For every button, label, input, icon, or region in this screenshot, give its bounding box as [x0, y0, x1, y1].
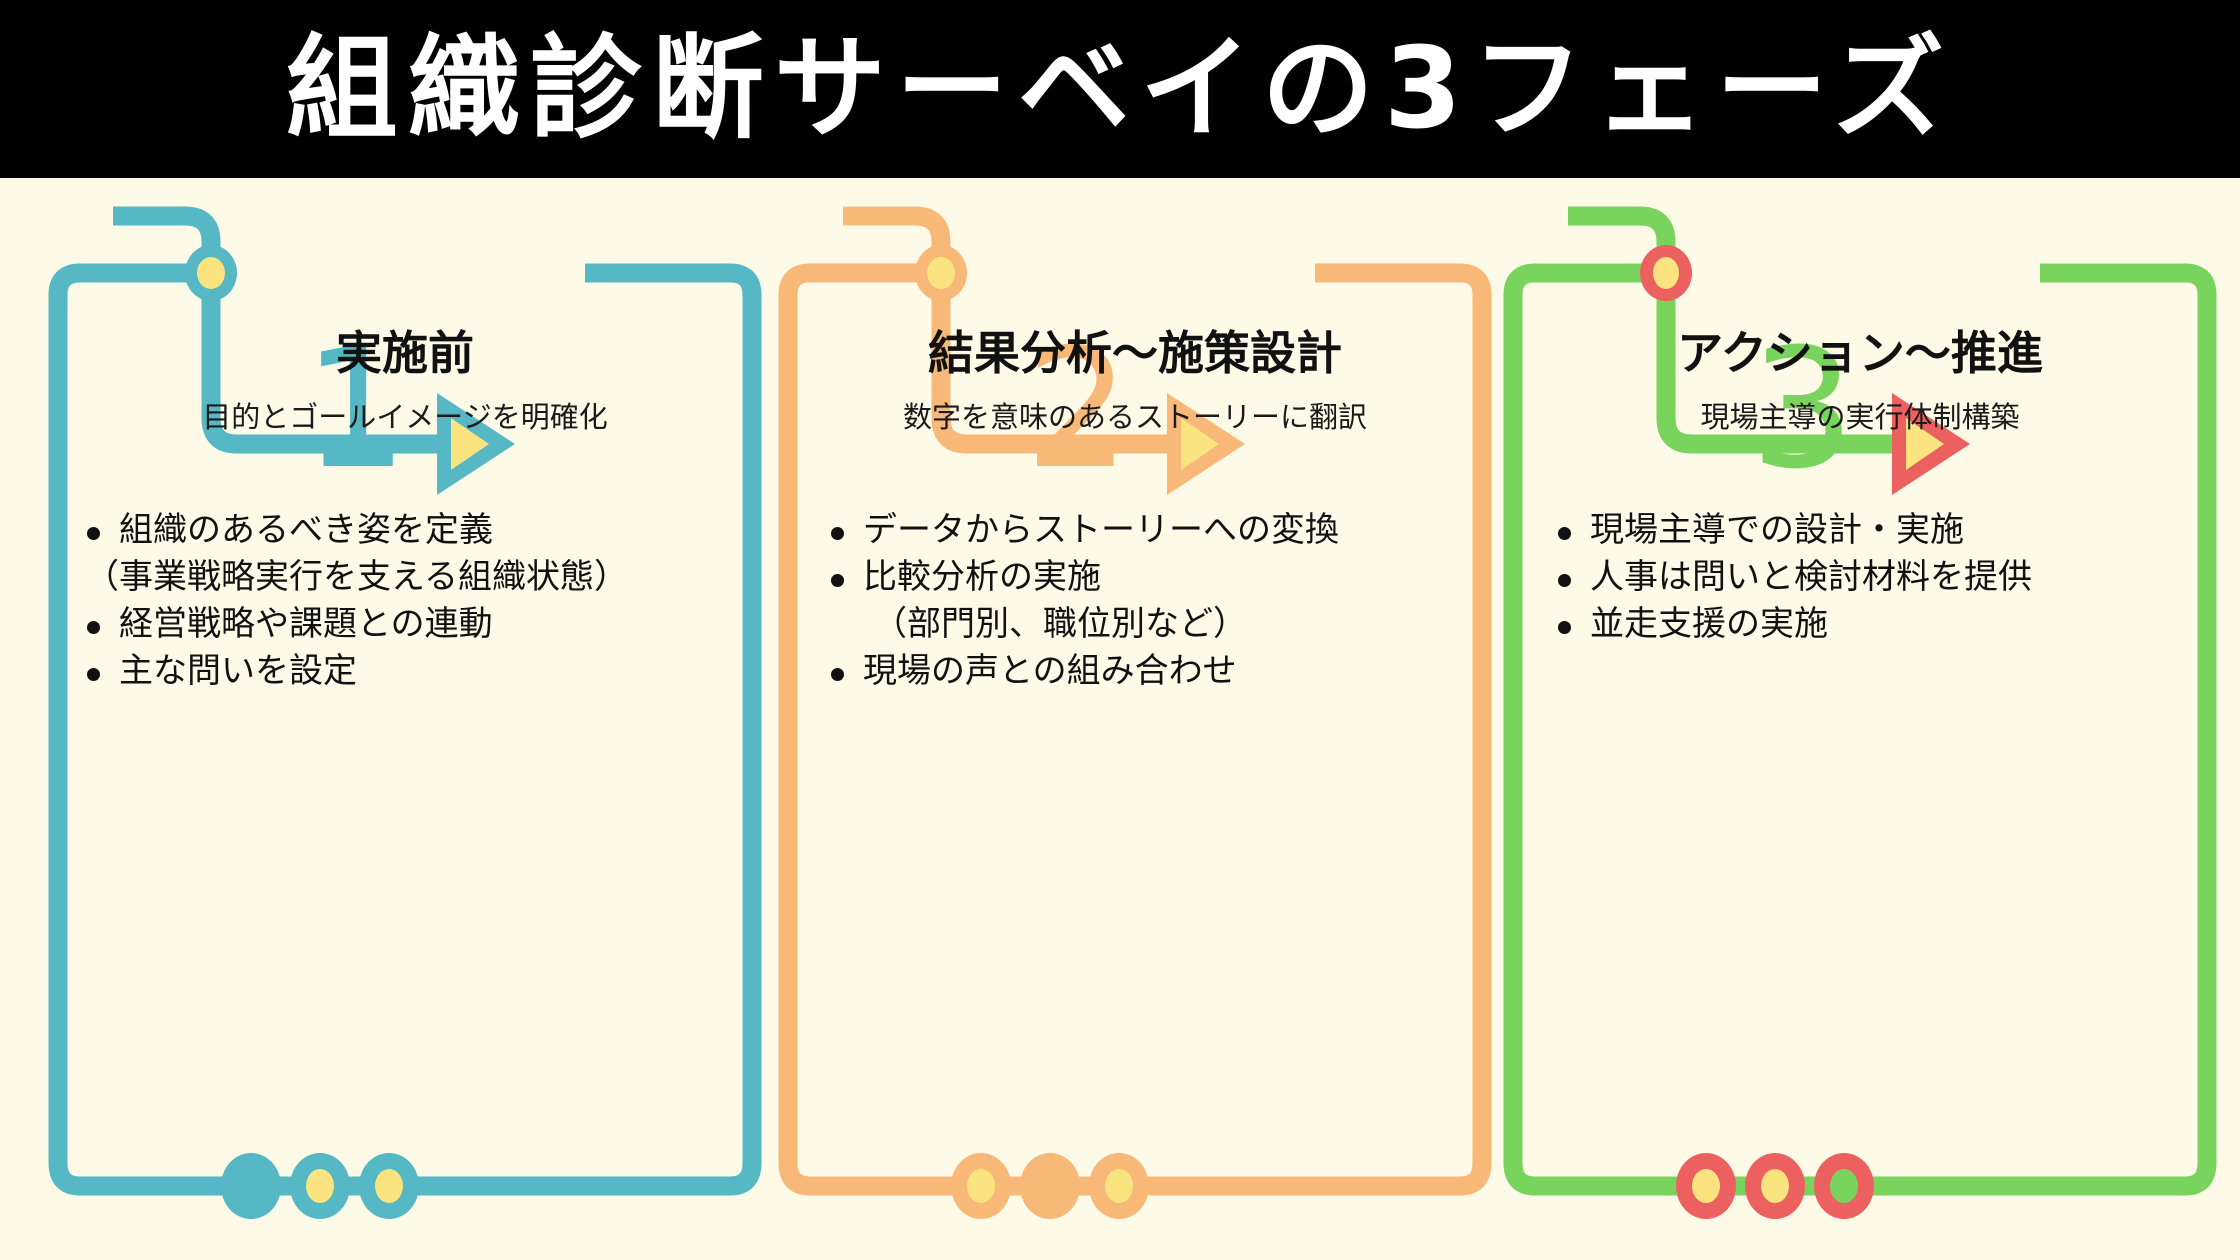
- phase-1-bullet-3: 経営戦略や課題との連動: [79, 602, 729, 647]
- phase-card-1: 1 実施前 目的とゴールイメージを明確化 組織のあるべき姿を定義 （事業戦略実行…: [45, 178, 765, 1260]
- phase-1-bullet-2: （事業戦略実行を支える組織状態）: [79, 555, 729, 600]
- phase-3-bullet-3: 並走支援の実施: [1550, 602, 2200, 647]
- phase-1-heading: 実施前: [63, 328, 747, 379]
- phase-card-3: 3 アクション〜推進 現場主導の実行体制構築 現場主導での設計・実施 人事は問い…: [1500, 178, 2220, 1260]
- phase-3-text: アクション〜推進 現場主導の実行体制構築 現場主導での設計・実施 人事は問いと検…: [1518, 178, 2202, 1260]
- phase-2-bullet-list: データからストーリーへの変換 比較分析の実施 （部門別、職位別など） 現場の声と…: [823, 508, 1473, 696]
- phase-3-bullet-list: 現場主導での設計・実施 人事は問いと検討材料を提供 並走支援の実施: [1550, 508, 2200, 649]
- phase-2-heading: 結果分析〜施策設計: [793, 328, 1477, 379]
- phase-3-heading: アクション〜推進: [1518, 328, 2202, 379]
- phase-2-bullet-1: データからストーリーへの変換: [823, 508, 1473, 553]
- phase-2-bullet-2: 比較分析の実施: [823, 555, 1473, 600]
- phase-2-subtitle: 数字を意味のあるストーリーに翻訳: [793, 400, 1477, 435]
- phase-1-text: 実施前 目的とゴールイメージを明確化 組織のあるべき姿を定義 （事業戦略実行を支…: [63, 178, 747, 1260]
- phase-1-bullet-4: 主な問いを設定: [79, 649, 729, 694]
- phase-1-bullet-1: 組織のあるべき姿を定義: [79, 508, 729, 553]
- phase-card-2: 2 結果分析〜施策設計 数字を意味のあるストーリーに翻訳 データからストーリーへ…: [775, 178, 1495, 1260]
- phase-3-bullet-1: 現場主導での設計・実施: [1550, 508, 2200, 553]
- title-bar: 組織診断サーベイの3フェーズ: [0, 0, 2240, 178]
- phase-3-bullet-2: 人事は問いと検討材料を提供: [1550, 555, 2200, 600]
- phase-1-subtitle: 目的とゴールイメージを明確化: [63, 400, 747, 435]
- infographic-poster: 組織診断サーベイの3フェーズ 1: [0, 0, 2240, 1260]
- phase-3-subtitle: 現場主導の実行体制構築: [1518, 400, 2202, 435]
- phase-2-bullet-3: （部門別、職位別など）: [823, 602, 1473, 647]
- phase-2-bullet-4: 現場の声との組み合わせ: [823, 649, 1473, 694]
- page-title: 組織診断サーベイの3フェーズ: [286, 33, 1954, 145]
- phase-1-bullet-list: 組織のあるべき姿を定義 （事業戦略実行を支える組織状態） 経営戦略や課題との連動…: [79, 508, 729, 696]
- phase-2-text: 結果分析〜施策設計 数字を意味のあるストーリーに翻訳 データからストーリーへの変…: [793, 178, 1477, 1260]
